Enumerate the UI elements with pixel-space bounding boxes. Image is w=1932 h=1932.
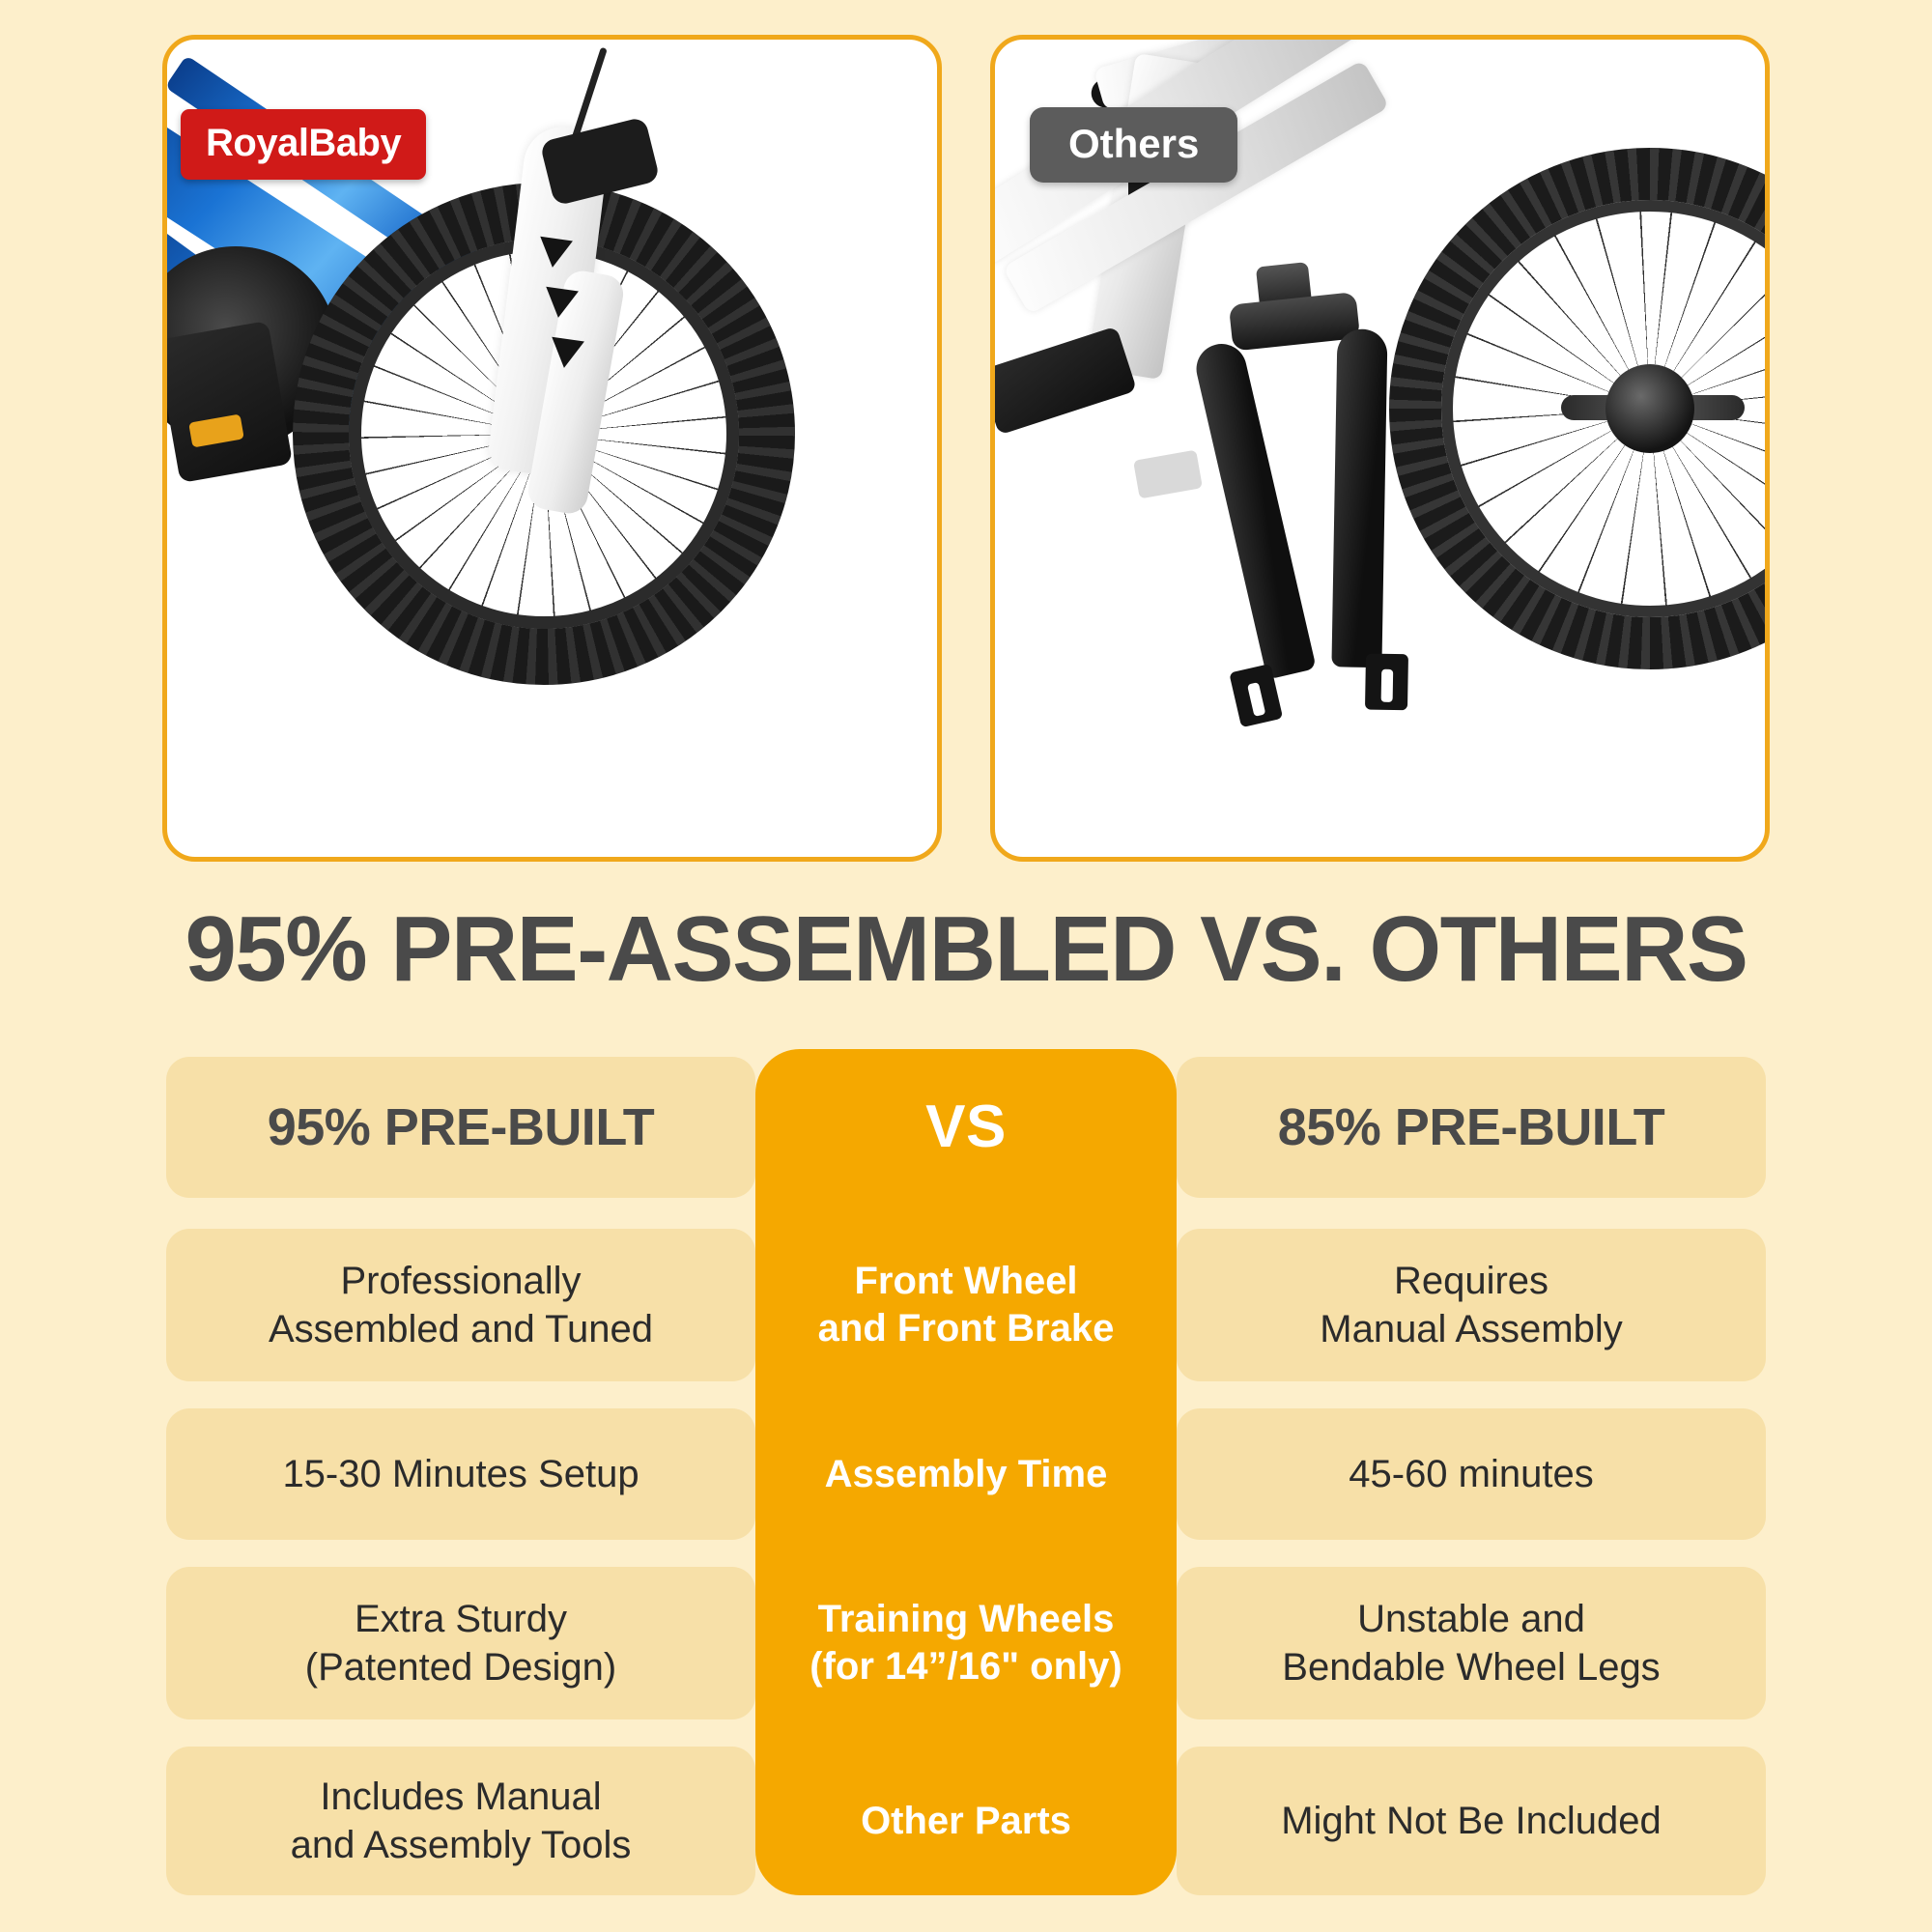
row1-left-text: Professionally Assembled and Tuned	[269, 1257, 653, 1354]
row3-mid-text: Training Wheels (for 14”/16" only)	[810, 1596, 1122, 1690]
row1-right-line1: Requires	[1394, 1260, 1548, 1302]
competitor-front-hub	[1605, 364, 1694, 453]
fork-decal-chevron-icon	[548, 337, 584, 370]
row4-cell-royalbaby: Includes Manual and Assembly Tools	[166, 1747, 755, 1895]
table-row: Professionally Assembled and Tuned Front…	[166, 1229, 1766, 1381]
row3-right-line2: Bendable Wheel Legs	[1282, 1646, 1660, 1689]
fork-decal-chevron-icon	[536, 237, 573, 270]
row1-mid-line1: Front Wheel	[854, 1260, 1077, 1302]
row1-cell-others: Requires Manual Assembly	[1177, 1229, 1766, 1381]
row4-left-line1: Includes Manual	[320, 1776, 601, 1818]
row3-left-line1: Extra Sturdy	[355, 1598, 567, 1640]
photo-panel-royalbaby: RoyalBaby	[162, 35, 942, 862]
row3-cell-others: Unstable and Bendable Wheel Legs	[1177, 1567, 1766, 1719]
row4-right-line1: Might Not Be Included	[1281, 1797, 1662, 1845]
royalbaby-logo-badge: RoyalBaby	[181, 109, 426, 180]
row4-mid-line1: Other Parts	[861, 1798, 1071, 1845]
row1-left-line1: Professionally	[340, 1260, 581, 1302]
row4-cell-feature: Other Parts	[755, 1747, 1177, 1895]
row2-cell-others: 45-60 minutes	[1177, 1408, 1766, 1540]
photo-panels: RoyalBaby	[162, 35, 1770, 862]
row3-mid-line1: Training Wheels	[818, 1598, 1115, 1640]
fork-leg-right	[1331, 328, 1387, 668]
row1-right-line2: Manual Assembly	[1320, 1308, 1622, 1350]
fork-leg-left	[1191, 339, 1316, 680]
header-cell-royalbaby: 95% PRE-BUILT	[166, 1057, 755, 1198]
row3-mid-line2: (for 14”/16" only)	[810, 1645, 1122, 1688]
photo-panel-others: Others	[990, 35, 1770, 862]
table-row: 15-30 Minutes Setup Assembly Time 45-60 …	[166, 1408, 1766, 1540]
row2-cell-feature: Assembly Time	[755, 1408, 1177, 1540]
row3-left-line2: (Patented Design)	[305, 1646, 616, 1689]
page-title: 95% PRE-ASSEMBLED VS. OTHERS	[0, 896, 1932, 1003]
header-cell-vs: VS	[755, 1057, 1177, 1198]
row2-right-line1: 45-60 minutes	[1349, 1450, 1593, 1498]
row1-right-text: Requires Manual Assembly	[1320, 1257, 1622, 1354]
others-badge: Others	[1030, 107, 1237, 183]
row3-right-line1: Unstable and	[1357, 1598, 1585, 1640]
table-row: Includes Manual and Assembly Tools Other…	[166, 1747, 1766, 1895]
row3-cell-royalbaby: Extra Sturdy (Patented Design)	[166, 1567, 755, 1719]
row1-cell-feature: Front Wheel and Front Brake	[755, 1229, 1177, 1381]
table-header-row: 95% PRE-BUILT VS 85% PRE-BUILT	[166, 1057, 1766, 1198]
row2-mid-line1: Assembly Time	[825, 1451, 1108, 1498]
detached-front-fork	[1136, 284, 1467, 727]
row1-mid-line2: and Front Brake	[818, 1307, 1115, 1350]
row3-cell-feature: Training Wheels (for 14”/16" only)	[755, 1567, 1177, 1719]
header-cell-others: 85% PRE-BUILT	[1177, 1057, 1766, 1198]
fork-decal-chevron-icon	[542, 287, 579, 320]
row4-left-line2: and Assembly Tools	[291, 1824, 632, 1866]
row3-right-text: Unstable and Bendable Wheel Legs	[1282, 1595, 1660, 1692]
comparison-table: 95% PRE-BUILT VS 85% PRE-BUILT Professio…	[166, 1049, 1766, 1899]
row4-cell-others: Might Not Be Included	[1177, 1747, 1766, 1895]
infographic-page: RoyalBaby	[0, 0, 1932, 1932]
row2-left-line1: 15-30 Minutes Setup	[282, 1450, 639, 1498]
row2-cell-royalbaby: 15-30 Minutes Setup	[166, 1408, 755, 1540]
fork-dropout-slot-right	[1381, 669, 1394, 702]
row1-mid-text: Front Wheel and Front Brake	[818, 1258, 1115, 1352]
row4-left-text: Includes Manual and Assembly Tools	[291, 1773, 632, 1870]
row1-left-line2: Assembled and Tuned	[269, 1308, 653, 1350]
table-row: Extra Sturdy (Patented Design) Training …	[166, 1567, 1766, 1719]
row3-left-text: Extra Sturdy (Patented Design)	[305, 1595, 616, 1692]
competitor-pedal	[995, 327, 1137, 436]
row1-cell-royalbaby: Professionally Assembled and Tuned	[166, 1229, 755, 1381]
